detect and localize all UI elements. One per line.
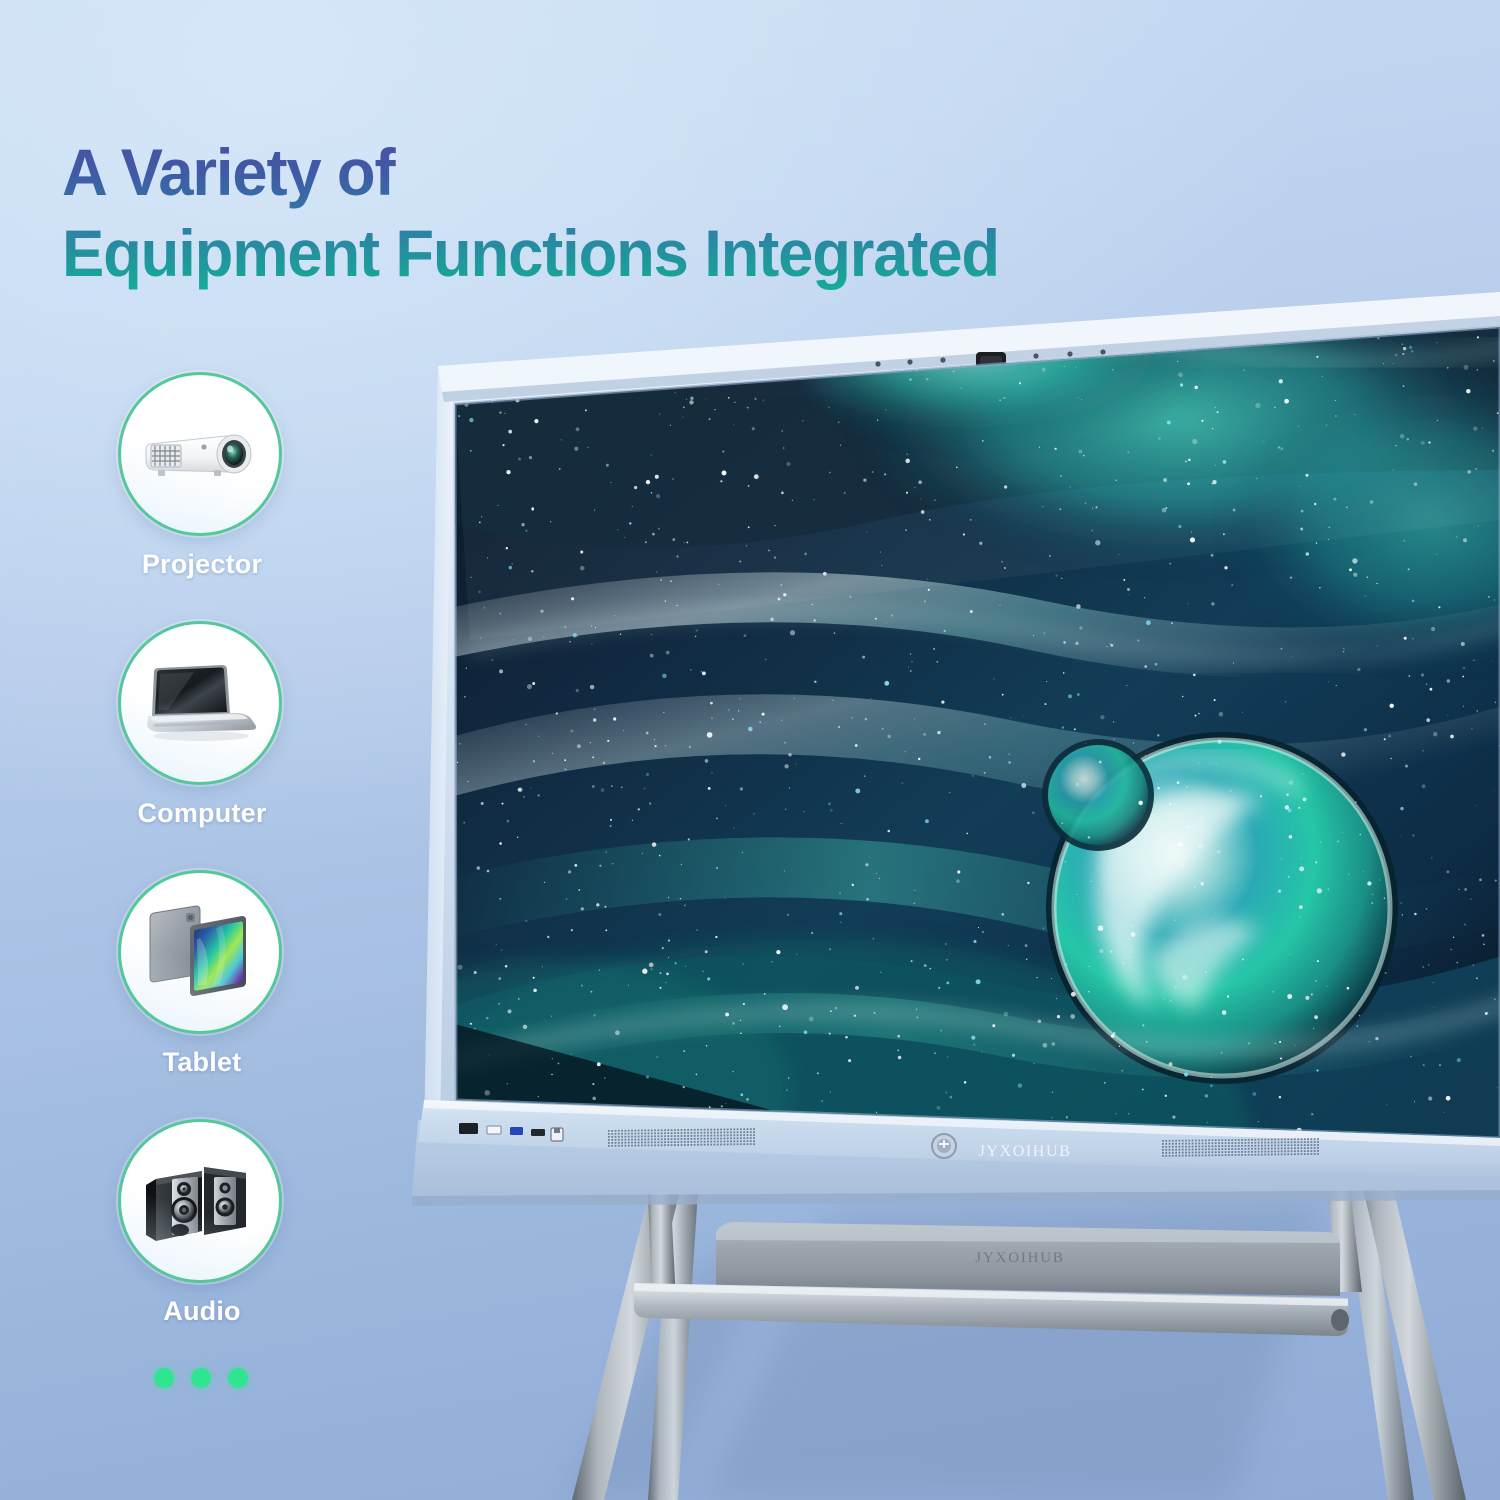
hdmi-port — [459, 1123, 478, 1134]
feature-item-computer[interactable]: Computer — [118, 621, 286, 829]
feature-icon-circle — [118, 621, 282, 785]
promo-banner: JYXOIHUB — [0, 0, 1500, 1500]
indicator-dot — [154, 1368, 174, 1388]
more-indicator — [116, 1368, 286, 1388]
tray-brand-text: JYXOIHUB — [975, 1250, 1064, 1266]
lan-port-tab — [554, 1128, 560, 1133]
bezel-brand-text: JYXOIHUB — [979, 1143, 1072, 1160]
indicator-dot — [228, 1368, 248, 1388]
feature-icon-circle — [118, 372, 282, 536]
mic-hole — [1033, 353, 1038, 358]
power-button[interactable] — [932, 1134, 956, 1158]
laptop-icon — [138, 660, 262, 746]
feature-icon-circle — [118, 1119, 282, 1283]
feature-rail: Projector — [118, 372, 286, 1388]
mic-hole — [1067, 351, 1072, 356]
feature-item-tablet[interactable]: Tablet — [118, 870, 286, 1078]
usb3-port — [510, 1127, 523, 1135]
feature-label: Audio — [118, 1296, 286, 1327]
feature-icon-circle — [118, 870, 282, 1034]
page-title: A Variety of Equipment Functions Integra… — [62, 132, 1281, 294]
feature-label: Tablet — [118, 1047, 286, 1078]
feature-item-projector[interactable]: Projector — [118, 372, 286, 580]
mic-hole — [875, 361, 880, 366]
usb-c-port — [531, 1129, 545, 1136]
feature-label: Projector — [118, 549, 286, 580]
feature-label: Computer — [118, 798, 286, 829]
usb-port — [487, 1126, 501, 1134]
mic-hole — [907, 359, 912, 364]
tablet-icon — [142, 904, 258, 1000]
mic-hole — [1100, 349, 1105, 354]
mic-hole — [940, 357, 945, 362]
projector-icon — [140, 414, 260, 494]
accessory-tray: JYXOIHUB — [634, 1222, 1349, 1336]
indicator-dot — [191, 1368, 211, 1388]
speakers-icon — [138, 1155, 262, 1247]
feature-item-audio[interactable]: Audio — [118, 1119, 286, 1327]
